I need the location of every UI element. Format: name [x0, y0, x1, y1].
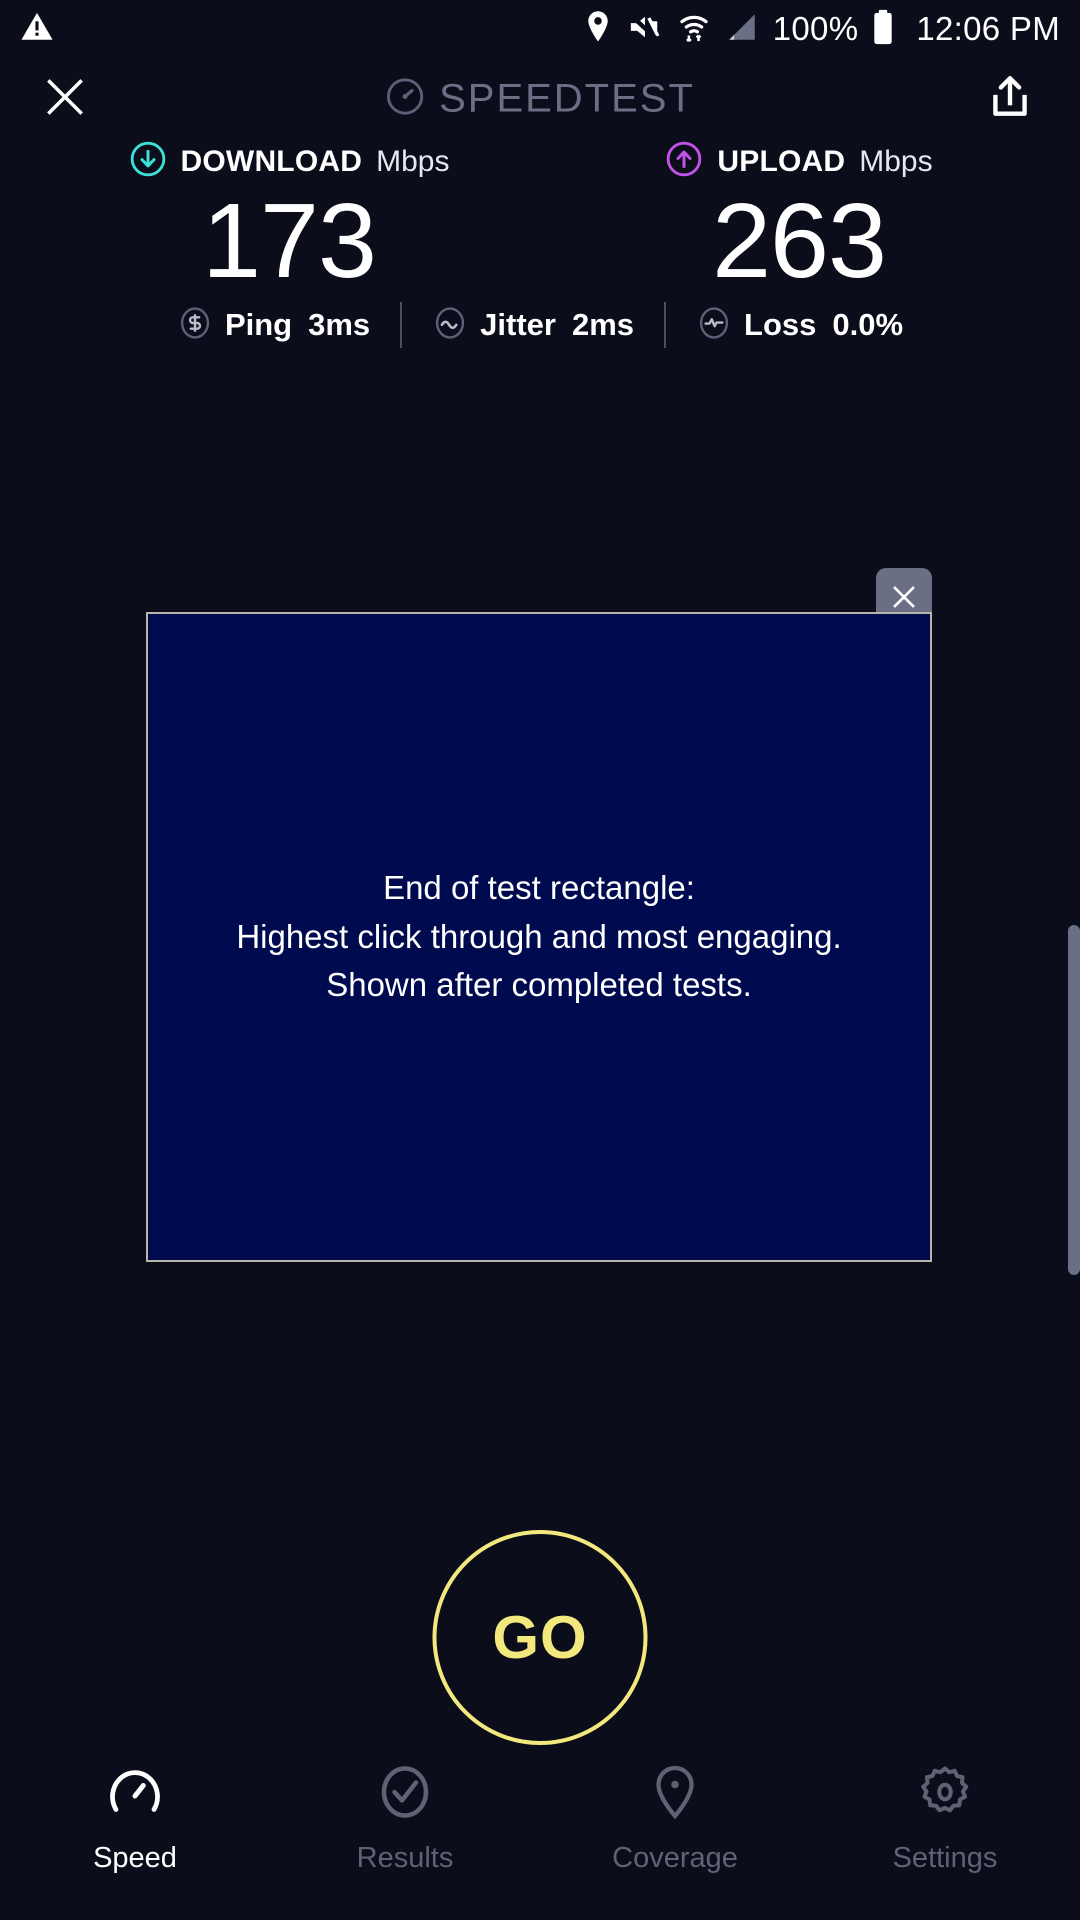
- loss-icon: [696, 305, 732, 346]
- cellular-signal-icon: [725, 10, 759, 49]
- speedometer-icon: [103, 1760, 167, 1824]
- clock-label: 12:06 PM: [916, 10, 1060, 48]
- ping-icon: [177, 305, 213, 346]
- speedometer-icon: [385, 77, 425, 122]
- upload-label: UPLOAD: [717, 145, 845, 179]
- results-row: DOWNLOAD Mbps 173 UPLOAD Mbps: [0, 140, 1080, 295]
- ad-banner[interactable]: End of test rectangle: Highest click thr…: [146, 612, 932, 1262]
- download-value: 173: [202, 187, 376, 295]
- metric-loss-label: Loss: [744, 307, 816, 343]
- metric-jitter-value: 2ms: [572, 307, 634, 343]
- ad-text: End of test rectangle: Highest click thr…: [222, 864, 855, 1010]
- download-header: DOWNLOAD Mbps: [129, 140, 450, 183]
- ad-line-3: Shown after completed tests.: [236, 961, 841, 1010]
- advertisement: End of test rectangle: Highest click thr…: [146, 612, 932, 1262]
- ad-line-2: Highest click through and most engaging.: [236, 913, 841, 962]
- check-circle-icon: [373, 1760, 437, 1824]
- status-bar: 100% 12:06 PM: [0, 0, 1080, 58]
- jitter-icon: [432, 305, 468, 346]
- app-title: SPEEDTEST: [385, 77, 695, 122]
- download-label: DOWNLOAD: [181, 145, 363, 179]
- download-unit: Mbps: [376, 145, 449, 179]
- warning-triangle-icon: [20, 10, 54, 49]
- share-icon: [985, 72, 1035, 127]
- download-arrow-icon: [129, 140, 167, 183]
- app-header: SPEEDTEST: [0, 58, 1080, 140]
- metric-loss-value: 0.0%: [832, 307, 903, 343]
- share-button[interactable]: [982, 71, 1038, 127]
- map-pin-icon: [643, 1760, 707, 1824]
- nav-item-speed[interactable]: Speed: [0, 1760, 270, 1875]
- location-pin-icon: [583, 10, 613, 49]
- nav-label-coverage: Coverage: [612, 1842, 738, 1875]
- nav-label-speed: Speed: [93, 1842, 177, 1875]
- results-panel: DOWNLOAD Mbps 173 UPLOAD Mbps: [0, 140, 1080, 295]
- nav-item-coverage[interactable]: Coverage: [540, 1760, 810, 1875]
- status-bar-right: 100% 12:06 PM: [583, 9, 1060, 50]
- app-title-label: SPEEDTEST: [439, 77, 695, 122]
- metric-jitter-label: Jitter: [480, 307, 556, 343]
- upload-arrow-icon: [665, 140, 703, 183]
- upload-result: UPLOAD Mbps 263: [599, 140, 999, 295]
- scrollbar-thumb[interactable]: [1068, 925, 1080, 1275]
- battery-percent-label: 100%: [773, 10, 859, 48]
- metric-ping-label: Ping: [225, 307, 292, 343]
- metric-jitter: Jitter 2ms: [402, 305, 664, 346]
- close-icon: [40, 72, 90, 127]
- go-button-label: GO: [492, 1603, 587, 1672]
- close-button[interactable]: [34, 68, 96, 130]
- wifi-icon: [677, 10, 711, 49]
- nav-label-results: Results: [357, 1842, 454, 1875]
- upload-unit: Mbps: [859, 145, 932, 179]
- go-button[interactable]: GO: [433, 1530, 648, 1745]
- bottom-navigation: Speed Results Coverage: [0, 1740, 1080, 1920]
- status-bar-left: [20, 10, 54, 49]
- upload-value: 263: [712, 187, 886, 295]
- nav-item-settings[interactable]: Settings: [810, 1760, 1080, 1875]
- metric-loss: Loss 0.0%: [666, 305, 933, 346]
- metric-ping-value: 3ms: [308, 307, 370, 343]
- nav-label-settings: Settings: [893, 1842, 998, 1875]
- download-result: DOWNLOAD Mbps 173: [89, 140, 489, 295]
- speedtest-app-screen: 100% 12:06 PM: [0, 0, 1080, 1920]
- gear-icon: [913, 1760, 977, 1824]
- upload-header: UPLOAD Mbps: [665, 140, 932, 183]
- metric-ping: Ping 3ms: [147, 305, 400, 346]
- volume-mute-icon: [627, 11, 663, 48]
- ad-line-1: End of test rectangle:: [236, 864, 841, 913]
- battery-full-icon: [872, 9, 894, 50]
- metrics-row: Ping 3ms Jitter 2ms Loss 0.0: [0, 302, 1080, 348]
- nav-item-results[interactable]: Results: [270, 1760, 540, 1875]
